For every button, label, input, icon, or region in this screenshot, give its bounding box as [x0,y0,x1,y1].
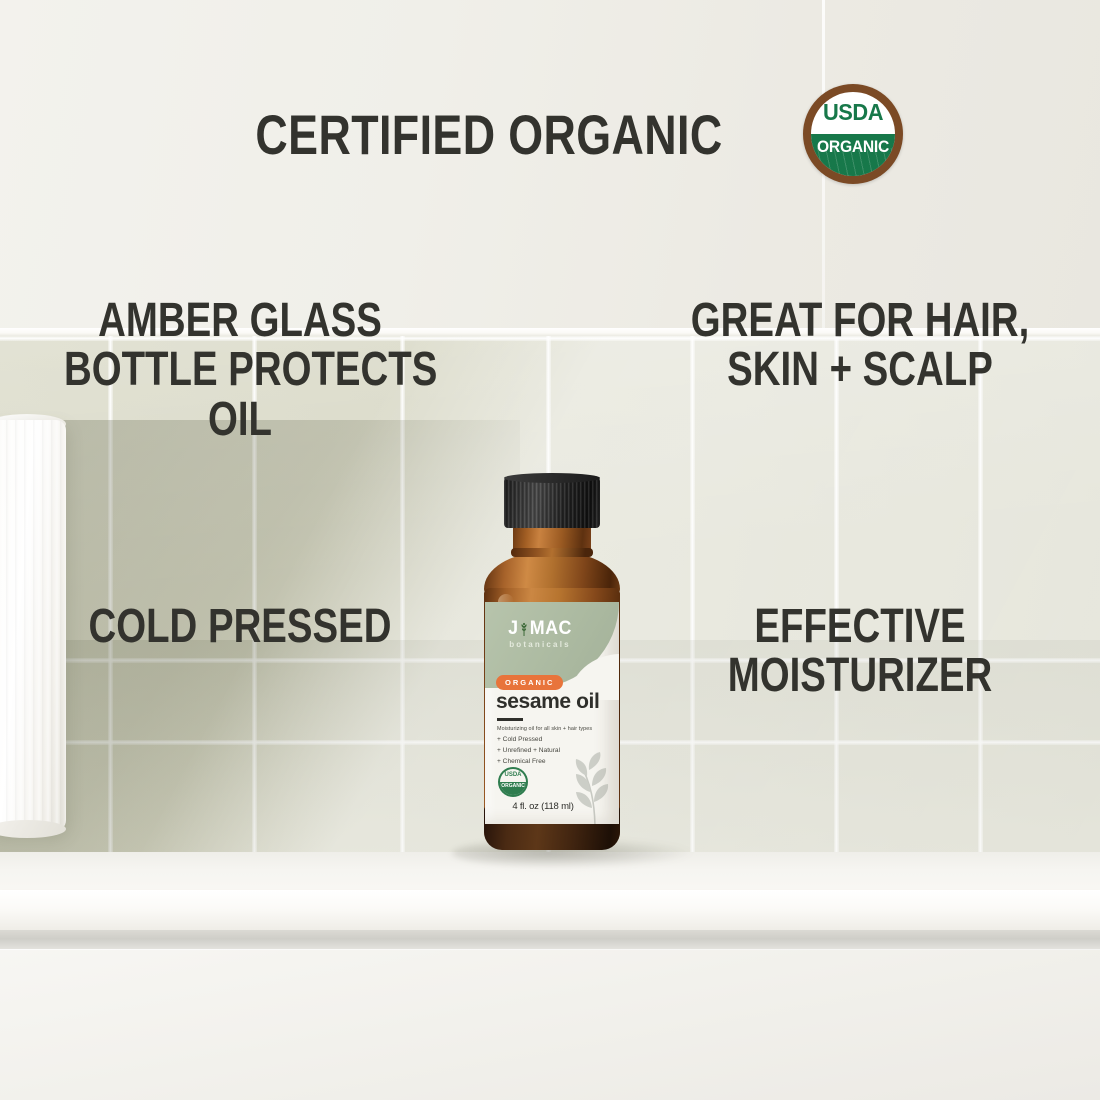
label-divider [497,718,523,721]
claim-line: GREAT FOR HAIR, [684,296,1036,345]
product-bullet: + Chemical Free [497,757,609,768]
product-bullet: + Unrefined + Natural [497,746,609,757]
countertop-edge [0,890,1100,932]
organic-badge: ORGANIC [496,675,563,690]
product-name: sesame oil [496,690,612,714]
claim-line: BOTTLE PROTECTS [64,345,416,394]
bottle-cap [504,476,600,528]
label-usda-seal-top-label: USDA [500,772,526,778]
claim-line: EFFECTIVE [684,602,1036,651]
sprig-icon [519,621,530,637]
label-usda-seal-bottom-label: ORGANIC [500,783,526,789]
claim-amber-glass: AMBER GLASS BOTTLE PROTECTS OIL [20,296,460,444]
claim-cold-pressed: COLD PRESSED [20,602,460,651]
brand-tagline: botanicals [485,640,595,649]
grout-line-vertical [690,336,695,856]
label-usda-seal-icon: USDA ORGANIC [498,767,528,797]
infographic-canvas: CERTIFIED ORGANIC USDA ORGANIC AMBER GLA… [0,0,1100,1100]
claim-line: AMBER GLASS [64,296,416,345]
usda-seal-top-label: USDA [813,99,893,126]
usda-seal-inner: USDA ORGANIC [811,92,895,176]
grout-line-vertical [834,336,839,856]
page-title: CERTIFIED ORGANIC [255,102,722,167]
net-volume: 4 fl. oz (118 ml) [493,801,593,812]
product-tagline: Moisturizing oil for all skin + hair typ… [497,726,609,732]
claim-effective-moisturizer: EFFECTIVE MOISTURIZER [640,602,1080,701]
bottle-cap-top [504,473,600,483]
cabinet-drawer-front [0,950,1100,1100]
grout-line-vertical [978,336,983,856]
product-bottle: JMAC botanicals ORGANIC sesame oil Moist… [470,476,635,868]
claim-hair-skin-scalp: GREAT FOR HAIR, SKIN + SCALP [640,296,1080,395]
brand-logo-j: J [508,618,518,639]
product-bullet-list: + Cold Pressed + Unrefined + Natural + C… [497,735,609,768]
brand-logo: JMAC [488,618,591,640]
claim-line: SKIN + SCALP [684,345,1036,394]
claim-line: OIL [64,395,416,444]
headline-row: CERTIFIED ORGANIC USDA ORGANIC [0,92,1100,176]
product-bullet: + Cold Pressed [497,735,609,746]
product-label: JMAC botanicals ORGANIC sesame oil Moist… [485,602,619,824]
brand-logo-mac: MAC [530,618,572,639]
usda-organic-seal-icon: USDA ORGANIC [803,84,903,184]
usda-seal-bottom-label: ORGANIC [814,137,891,157]
bottle-neck-ring [511,548,593,557]
label-usda-seal-inner: USDA ORGANIC [500,769,526,795]
claim-line: MOISTURIZER [684,651,1036,700]
claim-line: COLD PRESSED [64,602,416,651]
